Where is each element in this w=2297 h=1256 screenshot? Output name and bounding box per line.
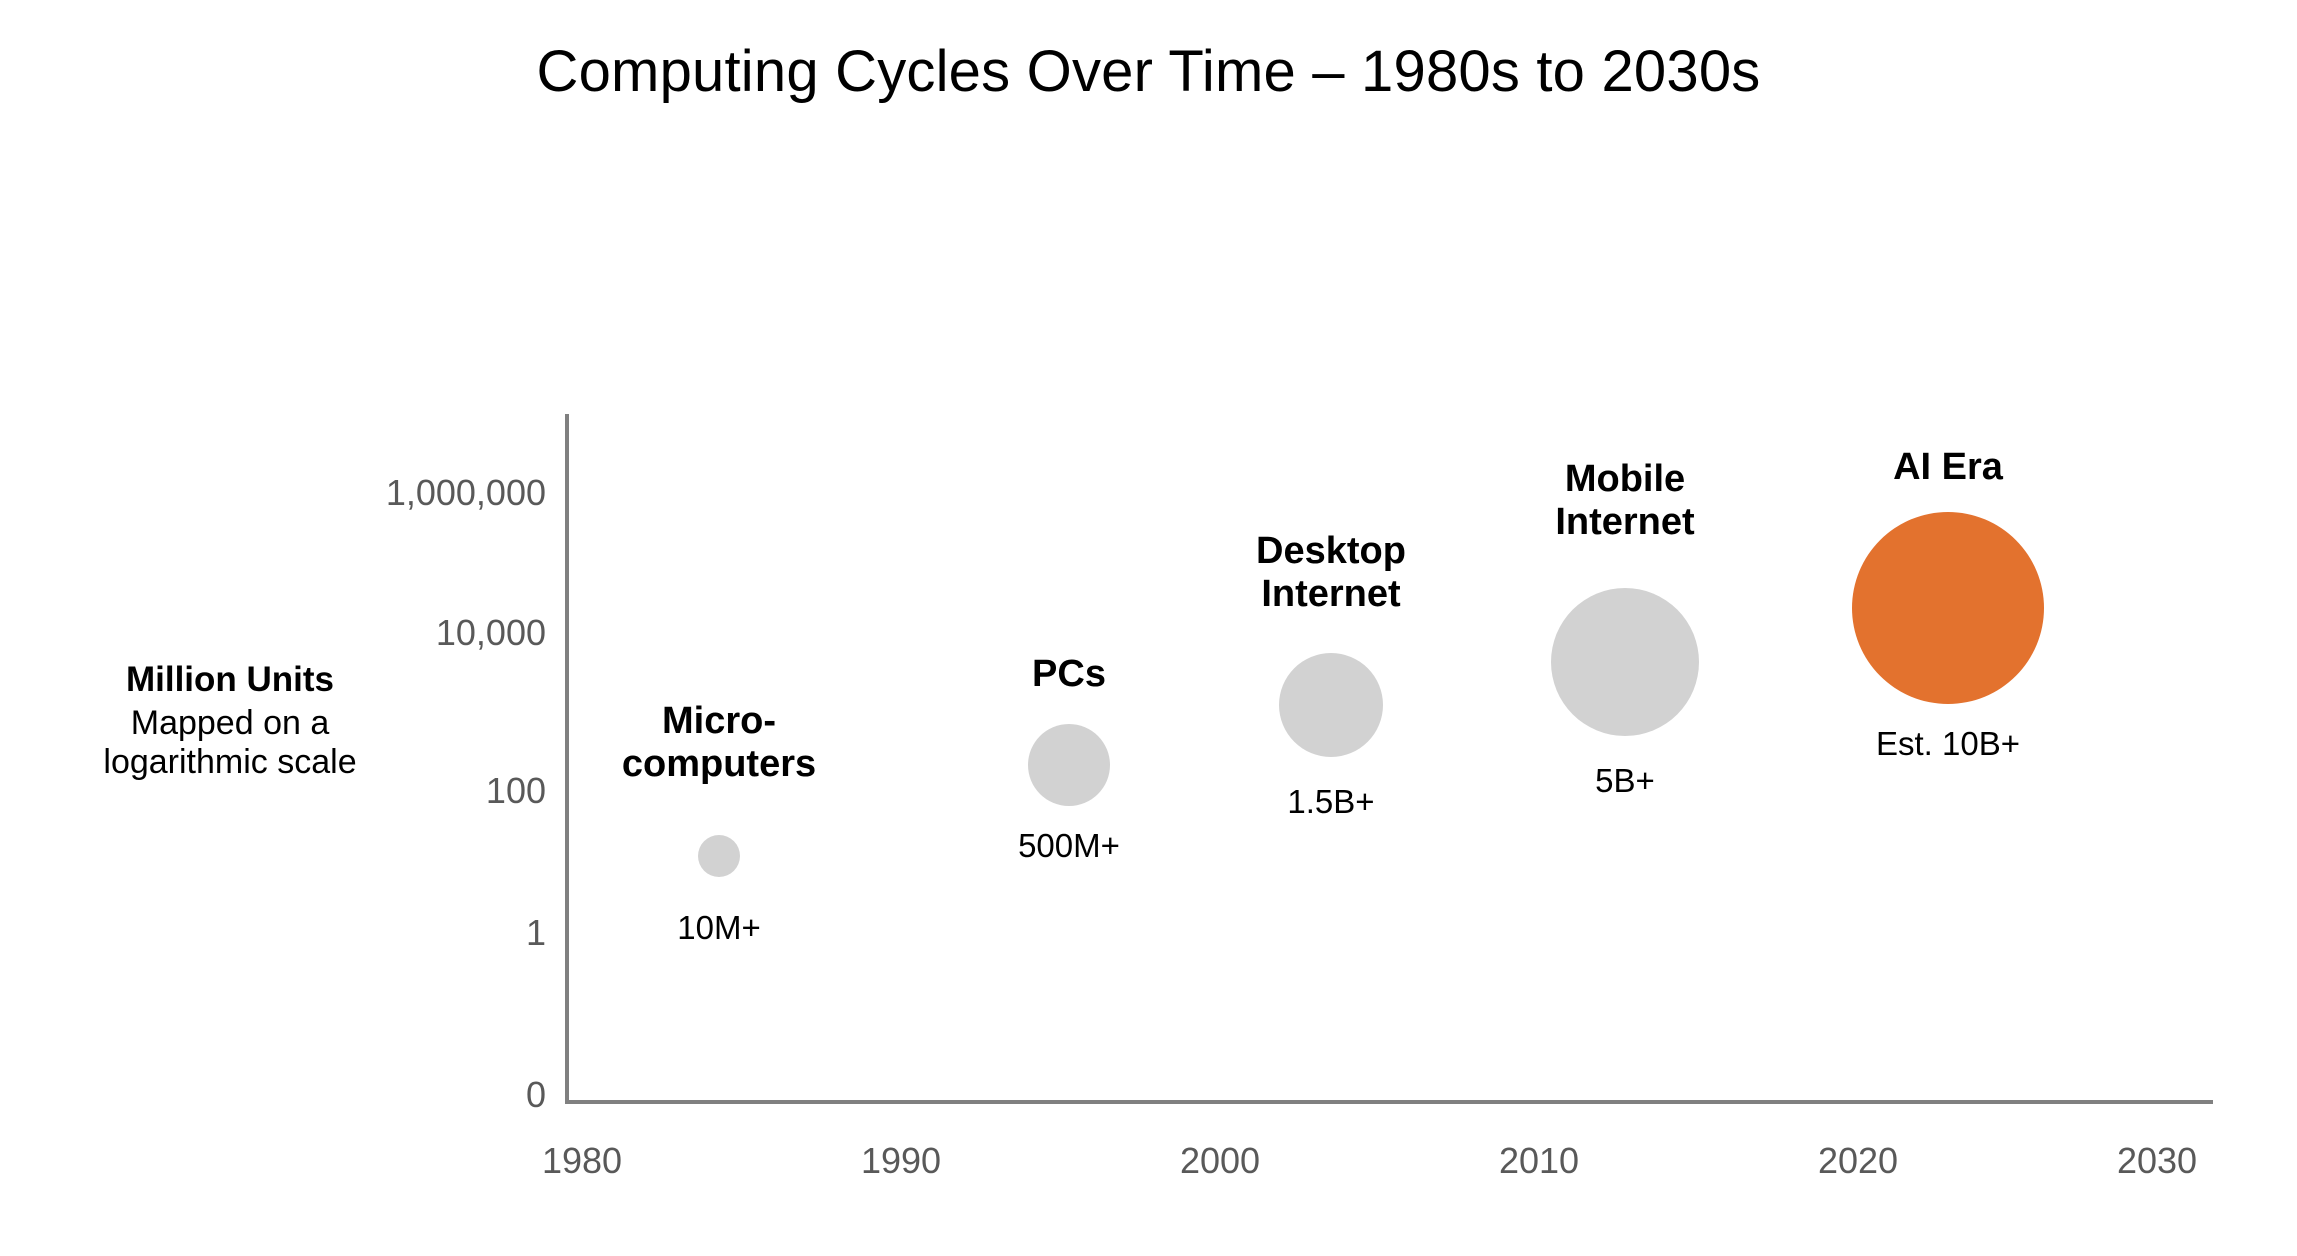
bubble-value-label: Est. 10B+ [1738, 726, 2158, 762]
bubble-value-label: 10M+ [509, 910, 929, 946]
bubble-label-line1: PCs [859, 653, 1279, 696]
bubble-label-line2: Internet [1415, 501, 1835, 544]
bubble-pcs[interactable] [1028, 724, 1110, 806]
chart-page: Computing Cycles Over Time – 1980s to 20… [0, 0, 2297, 1256]
bubble-label: AI Era [1738, 446, 2158, 489]
bubble-value-label: 500M+ [859, 828, 1279, 864]
bubble-label-line1: AI Era [1738, 446, 2158, 489]
bubble-ai-era[interactable] [1852, 512, 2044, 704]
bubble-micro-computers[interactable] [698, 835, 740, 877]
bubble-label: Micro-computers [509, 700, 929, 785]
bubble-label-line2: computers [509, 743, 929, 786]
bubble-desktop-internet[interactable] [1279, 653, 1383, 757]
bubble-series: Micro-computers10M+PCs500M+DesktopIntern… [0, 0, 2297, 1256]
bubble-label: PCs [859, 653, 1279, 696]
bubble-value-label: 5B+ [1415, 763, 1835, 799]
bubble-label-line2: Internet [1121, 573, 1541, 616]
bubble-label-line1: Micro- [509, 700, 929, 743]
bubble-mobile-internet[interactable] [1551, 588, 1699, 736]
